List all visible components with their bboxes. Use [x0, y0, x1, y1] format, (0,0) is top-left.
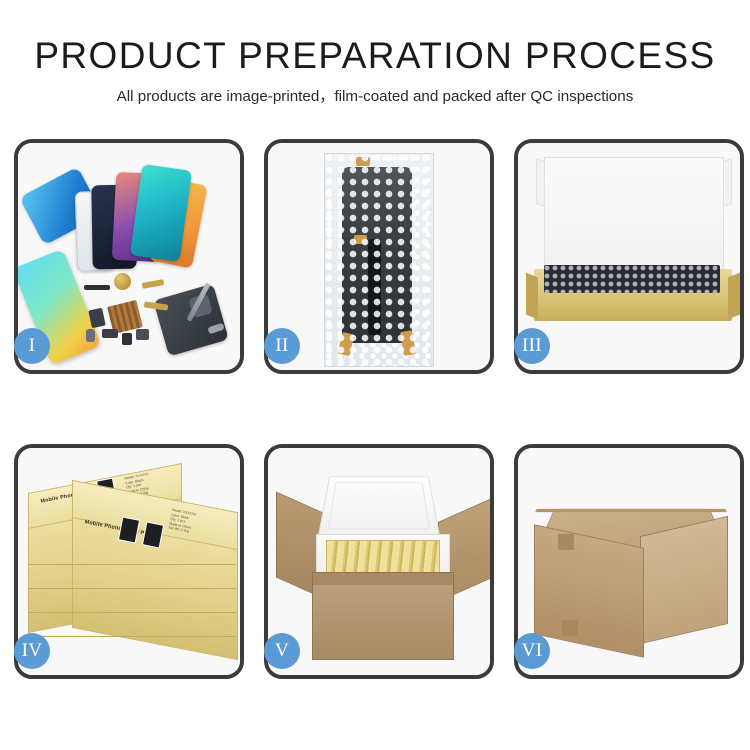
gold-connector-icon: [142, 279, 165, 289]
process-step-5: V: [264, 444, 494, 679]
tape-strip-top-icon: [356, 157, 370, 166]
sealed-carton-front-icon: [534, 524, 644, 657]
box-stack-seam-1: [28, 564, 236, 565]
carton-body-icon: [312, 572, 454, 660]
box-stack-seam-4: [28, 636, 236, 637]
step-badge-6: VI: [514, 633, 550, 669]
product-preparation-infographic: PRODUCT PREPARATION PROCESS All products…: [0, 0, 750, 750]
page-subtitle: All products are image-printed，film-coat…: [0, 87, 750, 106]
speaker-coil-icon: [114, 273, 131, 290]
process-step-4: Mobile Phone Spare Parts Model: XXXXXX C…: [14, 444, 244, 679]
step-badge-5: V: [264, 633, 300, 669]
step-5-image: [268, 448, 490, 675]
foam-lid-icon: [317, 476, 440, 538]
carton-tab-upper-icon: [558, 534, 574, 550]
step-badge-1: I: [14, 328, 50, 364]
tape-strip-middle-icon: [354, 235, 367, 244]
process-steps-grid: I II III: [14, 139, 744, 679]
step-badge-3: III: [514, 328, 550, 364]
step-badge-2: II: [264, 328, 300, 364]
process-step-6: VI: [514, 444, 744, 679]
bubble-wrapped-contents-icon: [544, 265, 720, 293]
step-badge-4: IV: [14, 633, 50, 669]
camera-module-icon: [88, 308, 105, 329]
box-spec-text-front: Model: XXXXXX Color: Black Qty: 1 pcs Ma…: [168, 508, 197, 535]
screen-flex-cable-icon: [368, 239, 381, 335]
carton-tab-lower-icon: [562, 620, 578, 636]
step-3-image: [518, 143, 740, 370]
sim-tray-icon: [122, 333, 132, 345]
process-step-1: I: [14, 139, 244, 374]
box-stack-seam-3: [28, 612, 236, 613]
box-stack-seam-2: [28, 588, 236, 589]
step-1-image: [18, 143, 240, 370]
step-2-image: [268, 143, 490, 370]
vibration-motor-icon: [102, 329, 118, 338]
process-step-2: II: [264, 139, 494, 374]
small-component-icon: [136, 329, 149, 340]
process-step-3: III: [514, 139, 744, 374]
carton-tape-seam-icon: [535, 509, 726, 512]
step-6-image: [518, 448, 740, 675]
sensor-part-icon: [86, 329, 95, 342]
white-box-lid-icon: [544, 157, 724, 277]
flex-cable-icon: [84, 285, 110, 290]
header: PRODUCT PREPARATION PROCESS All products…: [0, 34, 750, 106]
sealed-carton-side-icon: [640, 516, 728, 644]
yellow-boxes-inside-icon: [326, 540, 440, 576]
step-4-image: Mobile Phone Spare Parts Model: XXXXXX C…: [18, 448, 240, 675]
page-title: PRODUCT PREPARATION PROCESS: [0, 34, 750, 78]
